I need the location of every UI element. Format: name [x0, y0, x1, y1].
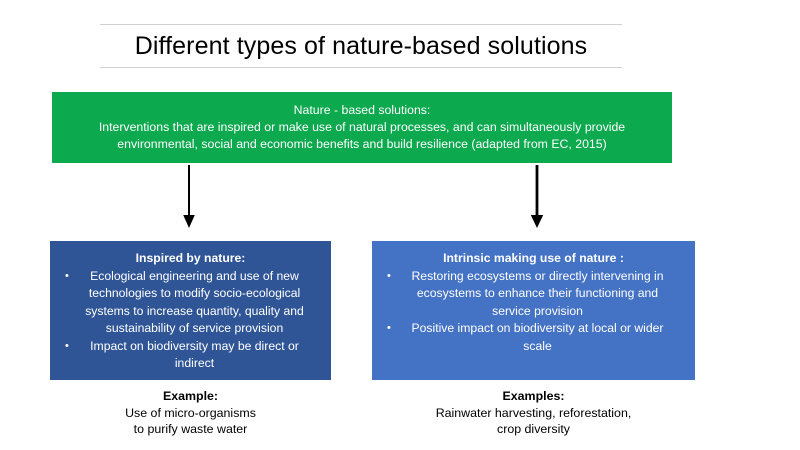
- bullet-text: Positive impact on biodiversity at local…: [412, 321, 664, 353]
- bullet-text: Impact on biodiversity may be direct or …: [90, 339, 299, 371]
- branch-bullet-list: • Restoring ecosystems or directly inter…: [378, 268, 689, 356]
- arrow-down-icon-left: [181, 165, 197, 229]
- bullet-icon: •: [387, 268, 391, 286]
- bullet-item: • Positive impact on biodiversity at loc…: [378, 320, 689, 355]
- definition-line-1: Nature - based solutions:: [294, 102, 431, 119]
- bullet-text: Ecological engineering and use of new te…: [85, 269, 304, 336]
- example-caption-line-2: to purify waste water: [50, 421, 331, 438]
- example-caption-left: Example: Use of micro-organisms to purif…: [50, 388, 331, 438]
- bullet-icon: •: [387, 320, 391, 338]
- example-caption-line-1: Rainwater harvesting, reforestation,: [372, 405, 695, 422]
- bullet-item: • Restoring ecosystems or directly inter…: [378, 268, 689, 321]
- page-title: Different types of nature-based solution…: [100, 25, 622, 67]
- example-caption-title: Examples:: [372, 388, 695, 405]
- branch-box-inspired-by-nature: Inspired by nature: • Ecological enginee…: [50, 241, 331, 380]
- bullet-icon: •: [65, 338, 69, 356]
- title-block: Different types of nature-based solution…: [100, 24, 622, 68]
- example-caption-title: Example:: [50, 388, 331, 405]
- bullet-text: Restoring ecosystems or directly interve…: [412, 269, 664, 318]
- branch-bullet-list: • Ecological engineering and use of new …: [56, 268, 325, 373]
- bullet-icon: •: [65, 268, 69, 286]
- title-rule-bottom: [100, 67, 622, 68]
- example-caption-line-2: crop diversity: [372, 421, 695, 438]
- example-caption-line-1: Use of micro-organisms: [50, 405, 331, 422]
- bullet-item: • Impact on biodiversity may be direct o…: [56, 338, 325, 373]
- branch-heading: Intrinsic making use of nature :: [378, 250, 689, 268]
- arrow-down-icon-right: [529, 165, 545, 229]
- definition-line-2: Interventions that are inspired or make …: [99, 119, 625, 136]
- example-caption-right: Examples: Rainwater harvesting, reforest…: [372, 388, 695, 438]
- definition-line-3: environmental, social and economic benef…: [117, 136, 606, 153]
- bullet-item: • Ecological engineering and use of new …: [56, 268, 325, 338]
- branch-box-intrinsic-making-use-of-nature: Intrinsic making use of nature : • Resto…: [372, 241, 695, 380]
- branch-heading: Inspired by nature:: [56, 250, 325, 268]
- definition-box: Nature - based solutions: Interventions …: [52, 92, 672, 163]
